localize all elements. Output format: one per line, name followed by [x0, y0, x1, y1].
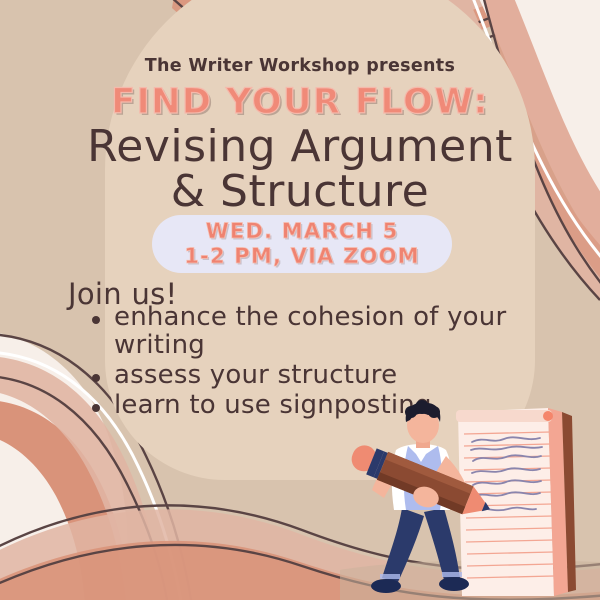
list-item: enhance the cohesion of your writing — [88, 303, 508, 359]
headline-line-1: Revising Argument — [87, 121, 513, 172]
poster: The Writer Workshop presents FIND YOUR F… — [0, 0, 600, 600]
presenter-line: The Writer Workshop presents — [0, 56, 600, 76]
list-item: assess your structure — [88, 361, 508, 389]
title-accent: FIND YOUR FLOW: — [0, 82, 600, 122]
page-title: Revising Argument & Structure — [0, 125, 600, 215]
headline-line-2: & Structure — [0, 170, 600, 215]
poster-content: The Writer Workshop presents FIND YOUR F… — [0, 0, 600, 600]
person-writing-illustration — [340, 400, 600, 600]
badge-time: 1-2 PM, VIA ZOOM — [184, 244, 420, 269]
badge-date: WED. MARCH 5 — [206, 219, 399, 244]
event-datetime-badge: WED. MARCH 5 1-2 PM, VIA ZOOM — [152, 215, 452, 273]
